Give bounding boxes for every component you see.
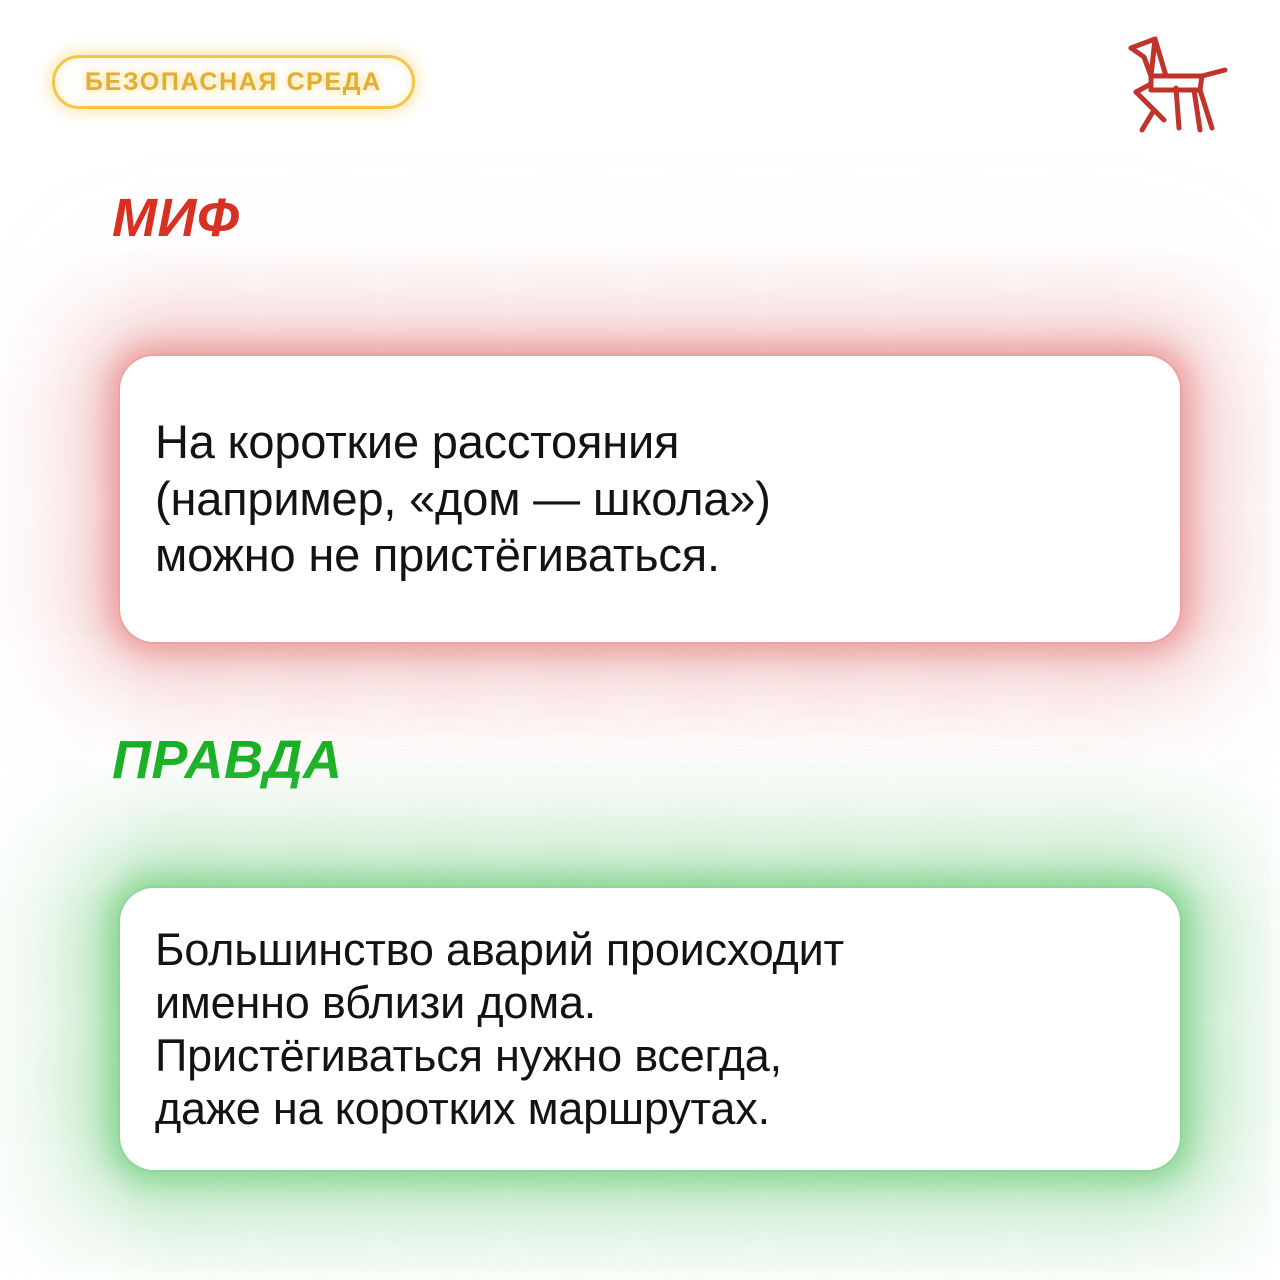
- truth-card: Большинство аварий происходит именно вбл…: [120, 888, 1180, 1170]
- truth-card-text: Большинство аварий происходит именно вбл…: [155, 923, 844, 1135]
- brand-badge: БЕЗОПАСНАЯ СРЕДА: [52, 55, 415, 109]
- brand-badge-label: БЕЗОПАСНАЯ СРЕДА: [85, 68, 382, 97]
- myth-heading: МИФ: [112, 191, 239, 245]
- myth-card-glow: На короткие расстояния (например, «дом —…: [120, 356, 1180, 642]
- truth-heading: ПРАВДА: [112, 733, 342, 787]
- myth-card: На короткие расстояния (например, «дом —…: [120, 356, 1180, 642]
- truth-card-glow: Большинство аварий происходит именно вбл…: [120, 888, 1180, 1170]
- poster-canvas: БЕЗОПАСНАЯ СРЕДА: [0, 0, 1280, 1280]
- myth-card-text: На короткие расстояния (например, «дом —…: [155, 414, 771, 583]
- red-horse-logo-icon: [1124, 26, 1228, 136]
